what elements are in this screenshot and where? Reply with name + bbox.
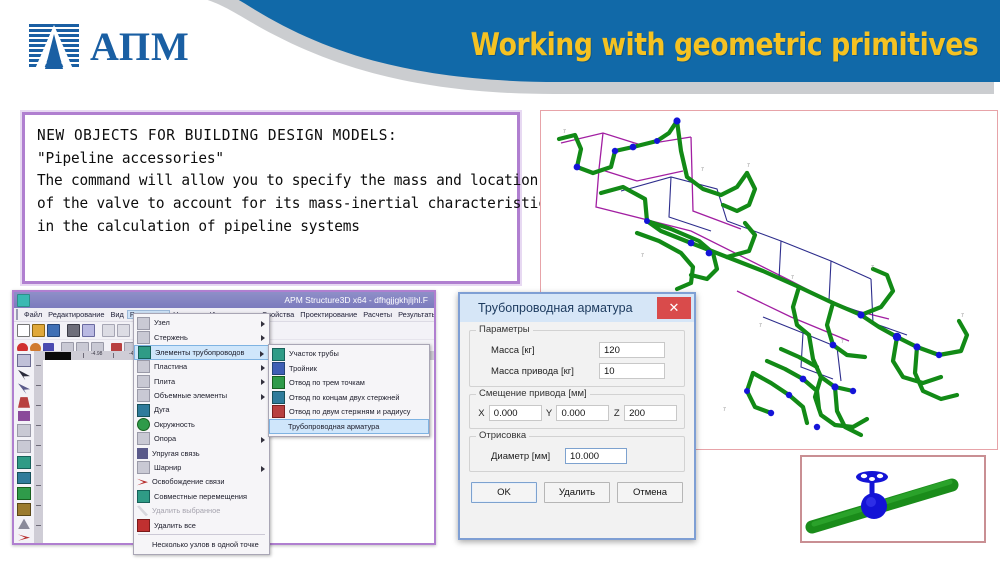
menu-item-calculations[interactable]: Расчеты [360, 310, 395, 319]
submenu-option-tee[interactable]: Тройник [269, 361, 429, 375]
offset-x-input[interactable]: 0.000 [489, 405, 542, 421]
dialog-button-row: OK Удалить Отмена [469, 482, 685, 503]
delete-button[interactable]: Удалить [544, 482, 610, 503]
joint-movement-icon [137, 490, 150, 503]
menu-separator [138, 534, 265, 535]
bend-radius-icon [272, 405, 285, 418]
menu-item-file[interactable]: Файл [21, 310, 45, 319]
menu-option-label: Упругая связь [152, 450, 200, 457]
menu-item-design[interactable]: Проектирование [297, 310, 360, 319]
multi-node-icon [137, 539, 148, 550]
offset-z-input[interactable]: 200 [624, 405, 677, 421]
bend-3points-icon [272, 376, 285, 389]
menu-option-label: Узел [154, 319, 170, 326]
rendering-group: Отрисовка Диаметр [мм] 10.000 [469, 436, 685, 472]
menu-option-label: Элементы трубопроводов [155, 349, 244, 356]
field-label: Масса [кг] [477, 345, 599, 356]
dialog-title: Трубопроводная арматура [460, 301, 633, 315]
open-file-icon[interactable] [32, 324, 45, 337]
chevron-right-icon [261, 379, 265, 385]
menu-option-delete-selected[interactable]: Удалить выбранное [134, 504, 269, 518]
select-window-icon[interactable] [17, 354, 31, 367]
svg-text:7: 7 [641, 253, 644, 259]
node-icon [137, 317, 150, 330]
chevron-right-icon [261, 335, 265, 341]
plate-icon [137, 360, 150, 373]
menu-option-node[interactable]: Узел [134, 316, 269, 330]
mesh-icon[interactable] [17, 440, 31, 453]
solid-elements-icon [137, 389, 150, 402]
new-file-icon[interactable] [17, 324, 30, 337]
axis-label-z: Z [612, 408, 621, 419]
add-node-icon[interactable] [18, 397, 30, 408]
menu-option-label: Несколько узлов в одной точке [152, 541, 259, 548]
menu-option-circle[interactable]: Окружность [134, 417, 269, 431]
menu-item-edit[interactable]: Редактирование [45, 310, 107, 319]
chevron-right-icon [261, 466, 265, 472]
app-icon [17, 294, 30, 307]
arc-tool-icon[interactable] [17, 487, 31, 500]
chevron-right-icon [260, 351, 264, 357]
menu-option-elastic-link[interactable]: Упругая связь [134, 446, 269, 460]
menu-option-label: Стержень [154, 334, 188, 341]
apm-logo-text: АПМ [90, 27, 190, 67]
menu-option-label: Освобождение связи [152, 478, 224, 485]
svg-text:7: 7 [701, 167, 704, 173]
bend-2beams-icon [272, 391, 285, 404]
svg-text:7: 7 [747, 163, 750, 169]
ruler-label: -4.98 [91, 351, 102, 357]
chevron-right-icon [261, 365, 265, 371]
menu-option-label: Совместные перемещения [154, 493, 247, 500]
valve-illustration [802, 457, 984, 541]
menu-option-label: Плита [154, 378, 175, 385]
callout-line: The command will allow you to specify th… [37, 169, 474, 192]
cad-titlebar: APM Structure3D x64 - dfhgjjgkhjljhl.F [14, 292, 434, 308]
field-row-drive-mass: Масса привода [кг] 10 [477, 363, 677, 379]
close-icon[interactable]: ✕ [657, 297, 691, 319]
print-icon[interactable] [67, 324, 80, 337]
save-icon[interactable] [47, 324, 60, 337]
elastic-link-icon [137, 448, 148, 459]
pipe-elements-icon [138, 346, 151, 359]
mass-input[interactable]: 120 [599, 342, 665, 358]
plate-tool-icon[interactable] [17, 503, 31, 516]
cancel-button[interactable]: Отмена [617, 482, 683, 503]
svg-text:7: 7 [871, 265, 874, 271]
pointer-icon[interactable] [18, 370, 30, 381]
submenu-option-label: Тройник [289, 365, 317, 372]
hinge-icon [137, 461, 150, 474]
drive-mass-input[interactable]: 10 [599, 363, 665, 379]
slab-icon [137, 375, 150, 388]
group-legend: Смещение привода [мм] [476, 388, 590, 399]
delete-all-icon [137, 519, 150, 532]
drive-offset-group: Смещение привода [мм] X 0.000 Y 0.000 Z … [469, 394, 685, 429]
callout-line: in the calculation of pipeline systems [37, 215, 474, 238]
menu-option-label: Шарнир [154, 464, 181, 471]
tee-icon [272, 362, 285, 375]
copy-icon[interactable] [82, 324, 95, 337]
description-callout: NEW OBJECTS FOR BUILDING DESIGN MODELS: … [22, 112, 520, 284]
cut-icon[interactable] [102, 324, 115, 337]
menu-option-label: Окружность [154, 421, 195, 428]
release-tool-icon[interactable] [18, 532, 30, 543]
pipe-tool-icon[interactable] [17, 456, 31, 469]
svg-text:7: 7 [791, 275, 794, 281]
menu-option-label: Дуга [154, 406, 170, 413]
svg-text:7: 7 [759, 323, 762, 329]
delete-selected-icon [137, 505, 148, 516]
menu-option-pipe-elements[interactable]: Элементы трубопроводов [134, 345, 269, 360]
field-row-diameter: Диаметр [мм] 10.000 [477, 448, 677, 464]
menu-option-solid-elements[interactable]: Объемные элементы [134, 389, 269, 403]
menu-item-results[interactable]: Результаты [395, 310, 436, 319]
field-label: Масса привода [кг] [477, 366, 599, 377]
dialog-titlebar: Трубопроводная арматура ✕ [460, 294, 694, 323]
pipe-segment-icon [272, 348, 285, 361]
menu-option-multi-node[interactable]: Несколько узлов в одной точке [134, 537, 269, 551]
menu-option-arc[interactable]: Дуга [134, 403, 269, 417]
support-tool-icon[interactable] [18, 519, 30, 530]
apm-logo: АПМ [28, 22, 190, 72]
header-banner: АПМ Working with geometric primitives [0, 0, 1000, 96]
menu-option-delete-all[interactable]: Удалить все [134, 518, 269, 532]
pipe-fitting-icon [273, 421, 284, 432]
pipe-fitting-dialog: Трубопроводная арматура ✕ Параметры Масс… [458, 292, 696, 540]
menu-option-beam[interactable]: Стержень [134, 330, 269, 344]
apm-striped-logo-icon [28, 22, 82, 72]
dialog-body: Параметры Масса [кг] 120 Масса привода [… [460, 322, 694, 538]
valve-illustration-box [800, 455, 986, 543]
cad-tool-palette [14, 351, 35, 543]
beam-icon [137, 331, 150, 344]
select-node-icon[interactable] [18, 383, 30, 394]
release-link-icon [137, 477, 148, 488]
menu-option-hinge[interactable]: Шарнир [134, 461, 269, 475]
submenu-option-pipe-segment[interactable]: Участок трубы [269, 347, 429, 361]
page-title: Working with geometric primitives [470, 27, 978, 63]
menu-option-joint-movement[interactable]: Совместные перемещения [134, 489, 269, 503]
move-node-icon[interactable] [18, 411, 30, 422]
draw-dropdown-menu: Узел Стержень Элементы трубопроводов Пла… [133, 313, 270, 555]
cad-window-title: APM Structure3D x64 - dfhgjjgkhjljhl.F [284, 295, 428, 305]
parameters-group: Параметры Масса [кг] 120 Масса привода [… [469, 330, 685, 387]
submenu-option-bend-radius[interactable]: Отвод по двум стержням и радиусу [269, 405, 429, 419]
menu-option-label: Удалить все [154, 522, 196, 529]
submenu-option-bend-3points[interactable]: Отвод по трем точкам [269, 376, 429, 390]
callout-line: of the valve to account for its mass-ine… [37, 192, 474, 215]
paste-icon[interactable] [117, 324, 130, 337]
circle-icon [137, 418, 150, 431]
svg-text:7: 7 [841, 339, 844, 345]
menu-option-support[interactable]: Опора [134, 432, 269, 446]
callout-line: "Pipeline accessories" [37, 147, 474, 170]
group-legend: Параметры [476, 324, 533, 335]
arc-icon [137, 404, 150, 417]
menu-doc-icon [16, 309, 18, 320]
grid-snap-icon[interactable] [17, 424, 31, 437]
pipe-elements-submenu: Участок трубы Тройник Отвод по трем точк… [268, 344, 430, 437]
chevron-right-icon [261, 394, 265, 400]
diameter-input[interactable]: 10.000 [565, 448, 627, 464]
field-row-mass: Масса [кг] 120 [477, 342, 677, 358]
svg-text:7: 7 [961, 313, 964, 319]
menu-option-release-link[interactable]: Освобождение связи [134, 475, 269, 489]
callout-line: NEW OBJECTS FOR BUILDING DESIGN MODELS: [37, 124, 474, 147]
xyz-row: X 0.000 Y 0.000 Z 200 [477, 405, 677, 421]
field-label: Диаметр [мм] [477, 451, 565, 462]
svg-text:7: 7 [723, 407, 726, 413]
ok-button[interactable]: OK [471, 482, 537, 503]
menu-option-label: Удалить выбранное [152, 507, 220, 514]
submenu-option-label: Отвод по трем точкам [289, 379, 365, 386]
chevron-right-icon [261, 321, 265, 327]
submenu-option-pipe-fitting[interactable]: Трубопроводная арматура [269, 419, 429, 434]
submenu-option-label: Участок трубы [289, 350, 339, 357]
submenu-option-bend-2beams[interactable]: Отвод по концам двух стержней [269, 390, 429, 404]
axis-label-x: X [477, 408, 486, 419]
menu-option-plate[interactable]: Пластина [134, 360, 269, 374]
chevron-right-icon [261, 437, 265, 443]
svg-text:7: 7 [563, 129, 566, 135]
menu-option-label: Опора [154, 435, 176, 442]
axis-label-y: Y [545, 408, 554, 419]
submenu-option-label: Отвод по концам двух стержней [289, 394, 399, 401]
support-icon [137, 432, 150, 445]
menu-option-label: Объемные элементы [154, 392, 227, 399]
bend-tool-icon[interactable] [17, 472, 31, 485]
offset-y-input[interactable]: 0.000 [556, 405, 609, 421]
slide-root: АПМ Working with geometric primitives NE… [0, 0, 1000, 563]
submenu-option-label: Трубопроводная арматура [288, 423, 379, 430]
menu-option-label: Пластина [154, 363, 187, 370]
menu-item-view[interactable]: Вид [107, 310, 126, 319]
submenu-option-label: Отвод по двум стержням и радиусу [289, 408, 411, 415]
group-legend: Отрисовка [476, 430, 529, 441]
menu-option-slab[interactable]: Плита [134, 374, 269, 388]
